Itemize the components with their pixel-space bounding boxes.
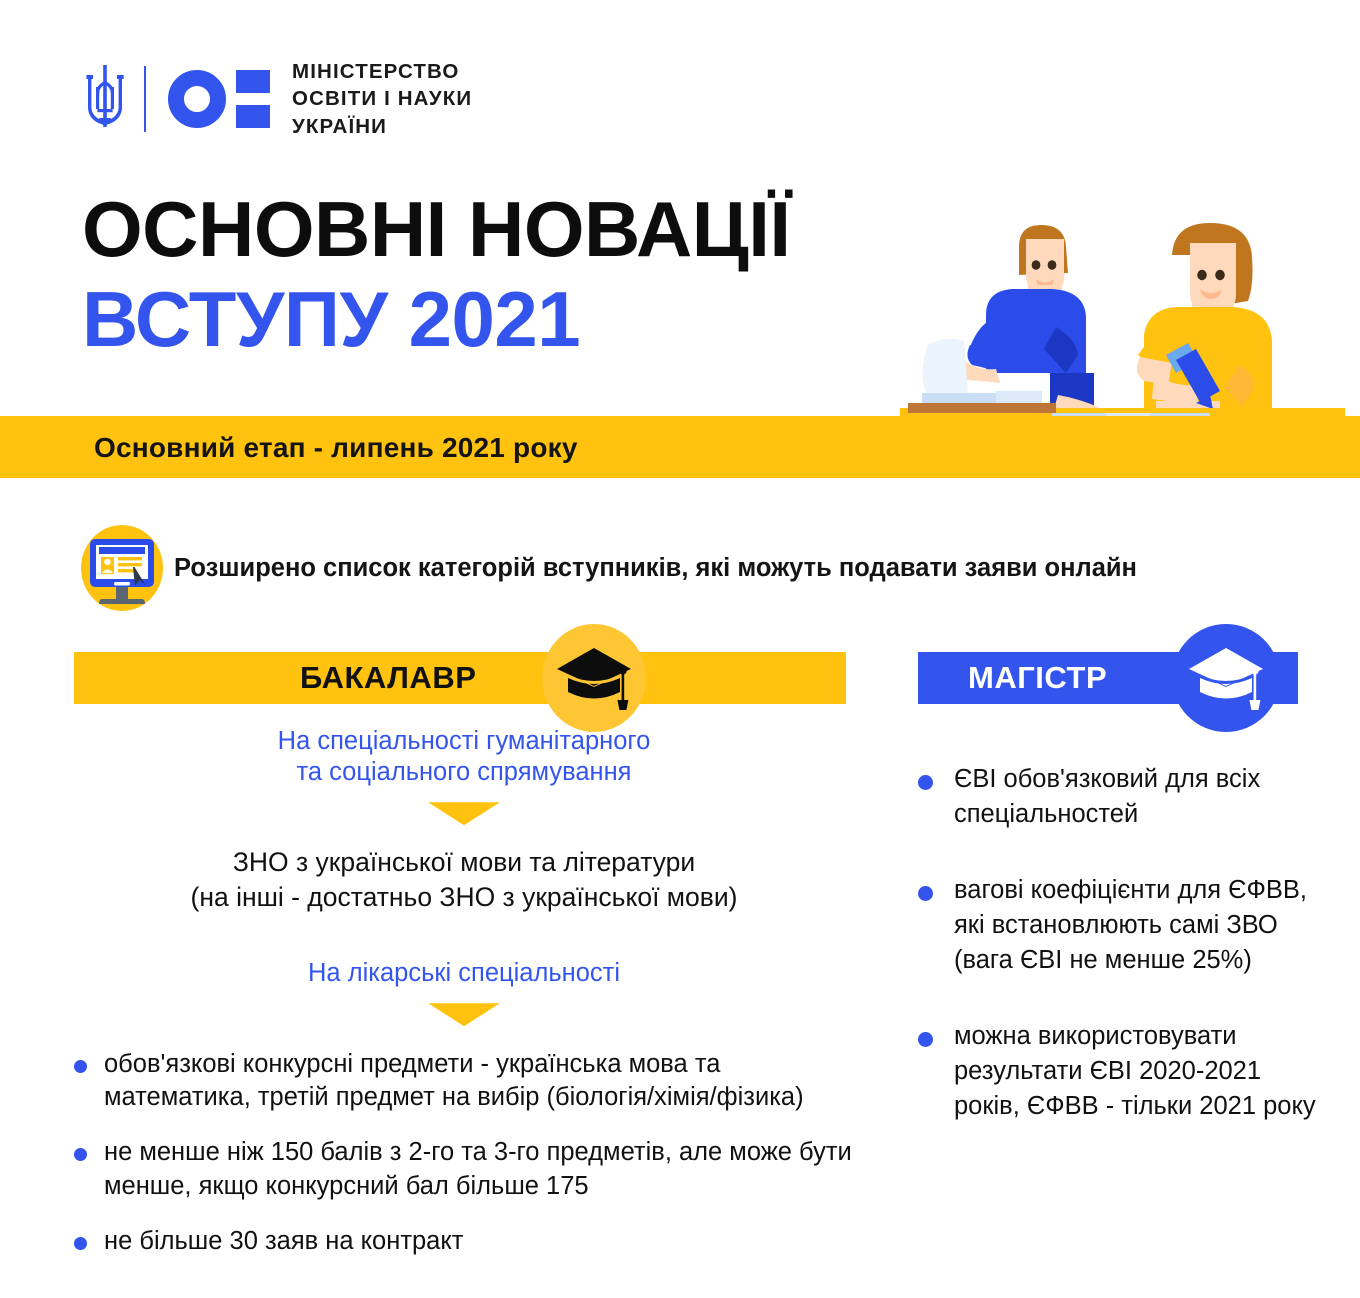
- master-banner-label: МАГІСТР: [968, 660, 1107, 696]
- ukrainian-trident-icon: [84, 63, 126, 135]
- bachelor-section1-body-line2: (на інші - достатньо ЗНО з української м…: [74, 880, 854, 914]
- bachelor-banner: БАКАЛАВР: [74, 652, 846, 704]
- logo-divider: [144, 66, 146, 132]
- bullet-dot-icon: [74, 1148, 87, 1161]
- bachelor-section1-heading-line1: На спеціальності гуманітарного: [74, 726, 854, 757]
- page-title-line1: ОСНОВНІ НОВАЦІЇ: [82, 190, 790, 268]
- bachelor-section2-heading: На лікарські спеціальності: [74, 958, 854, 989]
- ministry-logo: МІНІСТЕРСТВО ОСВІТИ І НАУКИ УКРАЇНИ: [84, 58, 472, 140]
- bachelor-banner-label: БАКАЛАВР: [300, 660, 476, 696]
- master-bullet-1: ЄВІ обов'язковий для всіх спеціальностей: [954, 762, 1318, 831]
- master-bullet-3: можна використовувати результати ЄВІ 202…: [954, 1019, 1318, 1123]
- online-application-note-text: Розширено список категорій вступників, я…: [174, 554, 1137, 583]
- bullet-dot-icon: [918, 775, 933, 790]
- list-item: вагові коефіцієнти для ЄФВВ, які встанов…: [918, 873, 1318, 977]
- online-application-note: Розширено список категорій вступників, я…: [80, 525, 1137, 611]
- list-item: обов'язкові конкурсні предмети - українс…: [74, 1048, 854, 1114]
- list-item: ЄВІ обов'язковий для всіх спеціальностей: [918, 762, 1318, 831]
- arrow-down-icon: [428, 802, 500, 825]
- bullet-dot-icon: [918, 886, 933, 901]
- bachelor-column: На спеціальності гуманітарного та соціал…: [74, 726, 854, 1258]
- bachelor-section1-body-line1: ЗНО з української мови та літератури: [74, 845, 854, 879]
- list-item: можна використовувати результати ЄВІ 202…: [918, 1019, 1318, 1123]
- bachelor-bullet-1: обов'язкові конкурсні предмети - українс…: [104, 1048, 854, 1114]
- bachelor-bullet-3: не більше 30 заяв на контракт: [104, 1225, 464, 1258]
- bullet-dot-icon: [74, 1237, 87, 1250]
- master-bullet-2: вагові коефіцієнти для ЄФВВ, які встанов…: [954, 873, 1318, 977]
- master-column: ЄВІ обов'язковий для всіх спеціальностей…: [918, 762, 1318, 1123]
- list-item: не більше 30 заяв на контракт: [74, 1225, 854, 1258]
- logo-text-line1: МІНІСТЕРСТВО: [292, 58, 472, 85]
- bullet-dot-icon: [74, 1060, 87, 1073]
- logo-text-line2: ОСВІТИ І НАУКИ: [292, 85, 472, 112]
- infographic-page: МІНІСТЕРСТВО ОСВІТИ І НАУКИ УКРАЇНИ ОСНО…: [0, 0, 1360, 1298]
- logo-circle-icon: [168, 70, 226, 128]
- logo-equals-icon: [236, 70, 270, 128]
- bachelor-section1-body: ЗНО з української мови та літератури (на…: [74, 845, 854, 914]
- bullet-dot-icon: [918, 1032, 933, 1047]
- master-graduation-cap-icon: [1172, 624, 1280, 732]
- bachelor-section1-heading-line2: та соціального спрямування: [74, 757, 854, 788]
- list-item: не менше ніж 150 балів з 2-го та 3-го пр…: [74, 1136, 854, 1202]
- stage-banner-text: Основний етап - липень 2021 року: [94, 432, 578, 464]
- bachelor-section1-heading: На спеціальності гуманітарного та соціал…: [74, 726, 854, 788]
- logo-text-line3: УКРАЇНИ: [292, 113, 472, 140]
- page-title: ОСНОВНІ НОВАЦІЇ ВСТУПУ 2021: [82, 190, 790, 358]
- bachelor-bullet-2: не менше ніж 150 балів з 2-го та 3-го пр…: [104, 1136, 854, 1202]
- monitor-online-application-icon: [80, 525, 164, 611]
- bachelor-graduation-cap-icon: [542, 624, 646, 732]
- ministry-logo-text: МІНІСТЕРСТВО ОСВІТИ І НАУКИ УКРАЇНИ: [292, 58, 472, 140]
- arrow-down-icon: [428, 1003, 500, 1026]
- page-title-line2: ВСТУПУ 2021: [82, 280, 790, 358]
- mon-logo-mark-icon: [168, 70, 270, 128]
